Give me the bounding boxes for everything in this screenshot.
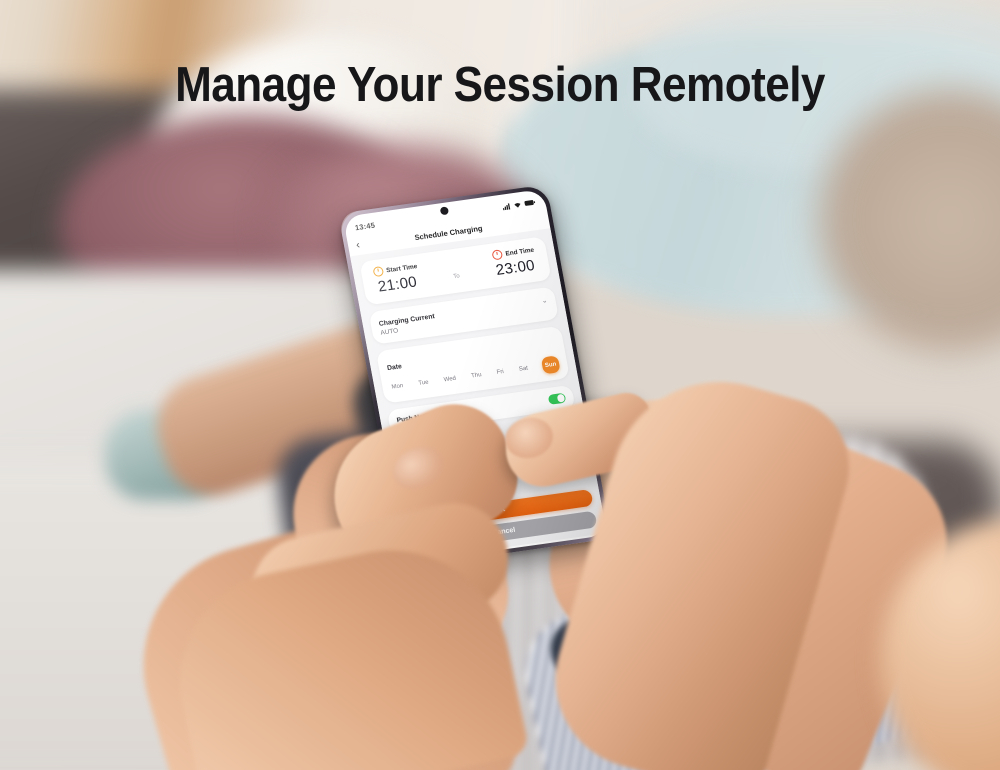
day-thu[interactable]: Thu: [470, 371, 484, 381]
day-mon[interactable]: Mon: [390, 382, 405, 392]
charging-current-value: AUTO: [380, 327, 399, 336]
time-separator: To: [453, 273, 460, 280]
clock-icon-start: [372, 266, 384, 277]
clock-icon-end: [492, 249, 504, 260]
start-time-value[interactable]: 21:00: [377, 273, 419, 295]
day-sat[interactable]: Sat: [517, 364, 529, 373]
day-tue[interactable]: Tue: [417, 378, 430, 388]
scene-root: 13:45: [0, 0, 1000, 770]
day-wed[interactable]: Wed: [442, 374, 458, 384]
date-label: Date: [387, 363, 403, 372]
headline: Manage Your Session Remotely: [50, 57, 950, 113]
status-clock: 13:45: [354, 220, 376, 232]
day-sun[interactable]: Sun: [541, 355, 561, 374]
chevron-down-icon[interactable]: ⌄: [541, 296, 548, 305]
battery-icon: [524, 199, 536, 206]
front-camera-punch-hole: [440, 206, 449, 215]
push-notifications-toggle[interactable]: [548, 393, 567, 405]
wifi-icon: [513, 201, 522, 209]
end-time-value[interactable]: 23:00: [495, 257, 537, 279]
day-fri[interactable]: Fri: [495, 367, 505, 376]
signal-icon: [502, 202, 511, 210]
status-icons: [502, 199, 536, 210]
